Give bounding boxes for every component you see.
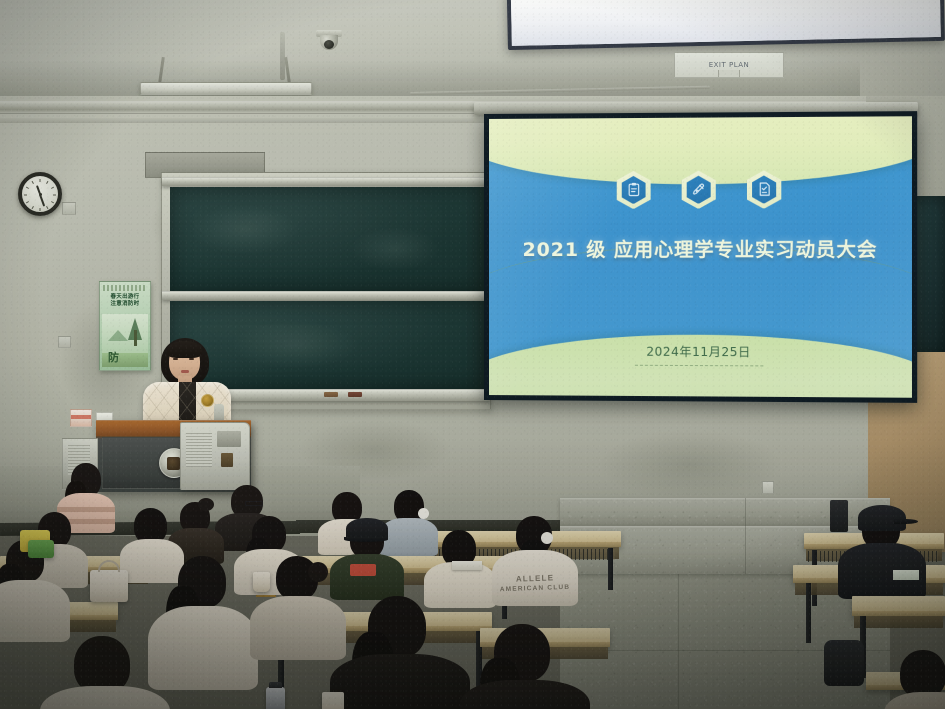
speaker-mouth	[181, 370, 189, 373]
slide-date: 2024年11月25日	[489, 342, 912, 361]
student-torso	[460, 680, 590, 709]
chalkboard-panel-upper	[170, 187, 484, 292]
university-seal-center	[167, 457, 180, 470]
notebook[interactable]	[452, 561, 482, 570]
chalkboard-top-rail	[162, 177, 490, 186]
speaker-eye-left	[173, 358, 178, 360]
tissue-box[interactable]	[70, 409, 92, 427]
tote-bag[interactable]	[90, 570, 128, 602]
slide-badge-row	[489, 170, 912, 210]
slide-title: 2021 级 应用心理学专业实习动员大会	[489, 234, 912, 262]
poster-header-band	[103, 285, 147, 291]
classroom-photo: EXIT PLAN	[0, 0, 945, 709]
ceiling-drop-pipe	[280, 32, 285, 80]
wall-outlet[interactable]	[762, 481, 774, 494]
paper-cup[interactable]	[322, 692, 344, 709]
cap-brim	[894, 519, 918, 524]
chalkboard-middle-rail	[162, 291, 490, 300]
sign-notch	[718, 70, 740, 77]
poster-line-1: 春天出游行	[104, 294, 146, 301]
av-control-console[interactable]	[180, 422, 250, 490]
student-torso	[884, 692, 945, 709]
glasses-icon	[245, 501, 263, 506]
wall-plate	[62, 202, 76, 215]
green-item[interactable]	[28, 540, 54, 558]
list-item	[838, 505, 926, 595]
console-slot[interactable]	[217, 431, 241, 447]
fluorescent-light-fixture	[140, 82, 312, 95]
clipboard-icon	[616, 171, 650, 209]
projection-screen: 2021 级 应用心理学专业实习动员大会 2024年11月25日	[484, 111, 917, 403]
hair-clip	[198, 498, 214, 511]
chalk-eraser[interactable]	[324, 392, 338, 397]
chalk-eraser[interactable]	[348, 392, 362, 397]
paper-cup[interactable]	[253, 572, 270, 592]
step-seam	[745, 498, 746, 574]
student-torso	[330, 654, 470, 709]
list-item	[330, 596, 470, 709]
led-panel-glow	[511, 0, 941, 46]
clock-face	[22, 176, 58, 212]
list-item	[884, 650, 945, 709]
floor-seam	[678, 572, 679, 709]
wall-cornice-secondary	[0, 118, 500, 123]
student-head	[900, 650, 945, 698]
clock-minute-hand	[39, 194, 45, 207]
water-bottle[interactable]	[266, 687, 285, 709]
speaker-lapel-badge	[201, 394, 214, 407]
wall-clock	[18, 172, 62, 216]
speaker-hair-front	[167, 341, 202, 358]
paper-sheet	[893, 570, 919, 580]
evacuation-plan-sign: EXIT PLAN	[674, 52, 784, 78]
hair-tie	[541, 532, 553, 544]
cap-brim	[344, 537, 388, 542]
speaker-eye-right	[189, 358, 194, 360]
camera-lens-icon	[324, 40, 334, 49]
poster-mountain	[108, 330, 128, 341]
bottle-cap[interactable]	[269, 682, 282, 688]
clock-center-pin	[39, 193, 42, 196]
list-item	[460, 624, 590, 709]
desk-row-front-far-right	[852, 596, 945, 616]
presentation-slide: 2021 级 应用心理学专业实习动员大会 2024年11月25日	[489, 116, 912, 398]
poster-line-2: 注意消防时	[104, 301, 146, 308]
desk-leg	[806, 583, 811, 643]
student-cap	[858, 505, 906, 531]
desk-leg	[608, 548, 613, 590]
poster-tree-trunk	[134, 330, 137, 346]
wall-switch-plate[interactable]	[58, 336, 71, 348]
list-item	[40, 636, 170, 709]
student-torso	[0, 580, 70, 642]
evacuation-plan-sign-text: EXIT PLAN	[709, 61, 750, 69]
list-item: ALLELE AMERICAN CLUB	[492, 516, 578, 602]
backpack[interactable]	[824, 640, 864, 686]
cap-logo-patch	[350, 564, 376, 576]
console-speaker-grill	[186, 433, 212, 467]
hair-bun	[308, 562, 328, 582]
student-torso	[40, 686, 170, 709]
pen-icon	[681, 171, 716, 209]
poster-corner-char: 防	[108, 349, 119, 365]
console-button[interactable]	[221, 453, 233, 467]
tissue-box-stripe	[71, 415, 91, 419]
checklist-icon	[746, 170, 781, 209]
